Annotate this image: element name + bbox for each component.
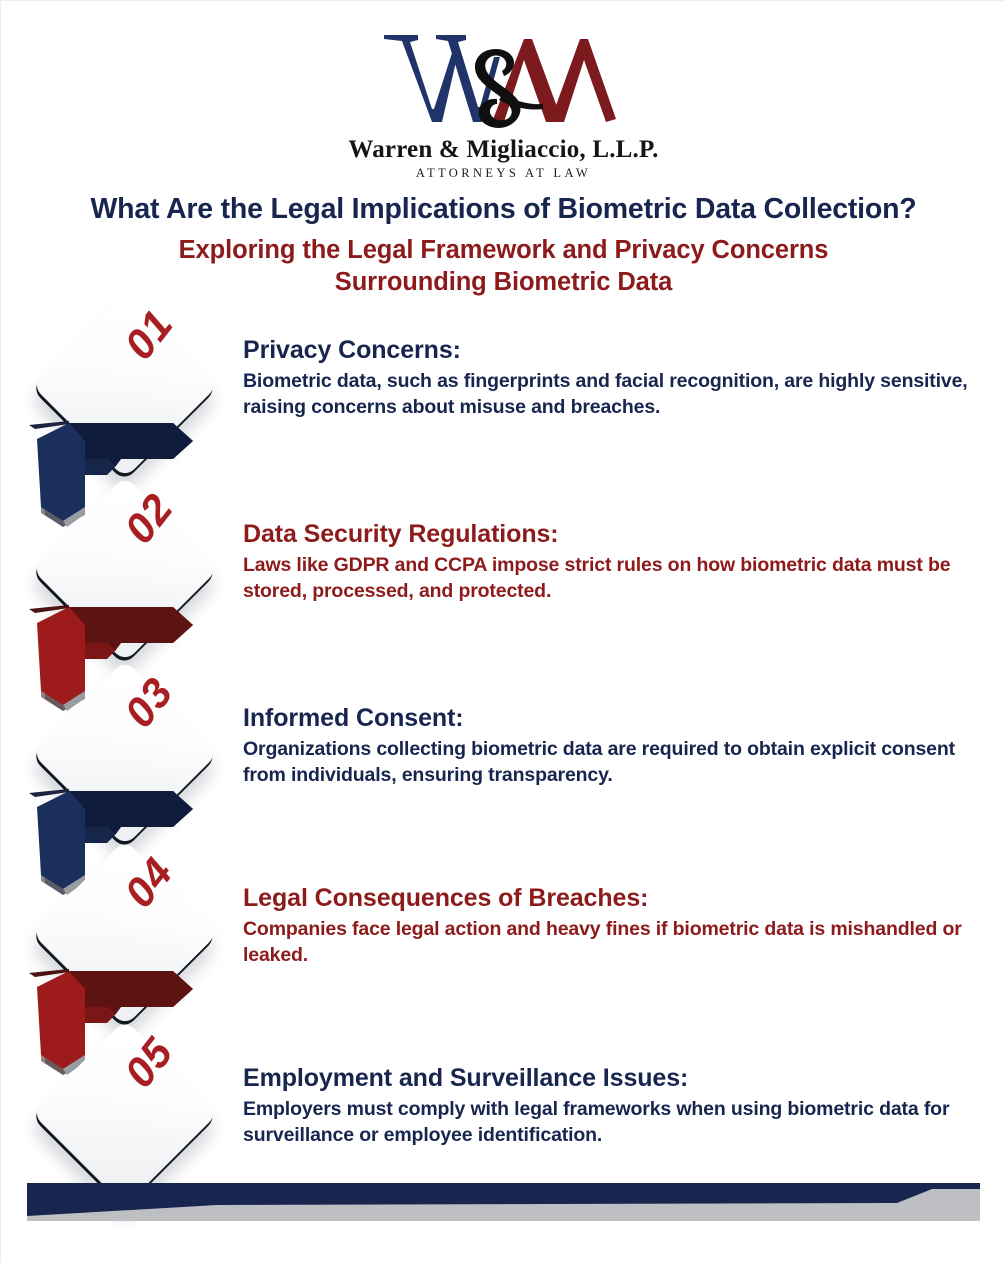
step-body: Organizations collecting biometric data … [243,737,983,789]
diamond-shape [32,1020,219,1207]
firm-name: Warren & Migliaccio, L.L.P. [1,137,1005,163]
wm-monogram-icon [374,27,634,135]
step-heading: Data Security Regulations: [243,519,983,549]
page-subtitle-line1: Exploring the Legal Framework and Privac… [1,234,1005,266]
brand-logo: Warren & Migliaccio, L.L.P. ATTORNEYS AT… [1,27,1005,181]
step-chain: 01 Privacy Concerns: Biometric data, su [1,297,1005,1197]
step-heading: Legal Consequences of Breaches: [243,883,983,913]
step-content: Privacy Concerns: Biometric data, such a… [243,335,983,421]
step-body: Laws like GDPR and CCPA impose strict ru… [243,553,983,605]
step-body: Companies face legal action and heavy fi… [243,917,983,969]
page-subtitle: Exploring the Legal Framework and Privac… [1,234,1005,298]
step-content: Legal Consequences of Breaches: Companie… [243,883,983,969]
step-content: Informed Consent: Organizations collecti… [243,703,983,789]
page-subtitle-line2: Surrounding Biometric Data [1,266,1005,298]
step-badge: 01 [23,297,238,512]
step-body: Biometric data, such as fingerprints and… [243,369,983,421]
infographic-page: Warren & Migliaccio, L.L.P. ATTORNEYS AT… [0,0,1005,1263]
step-content: Employment and Surveillance Issues: Empl… [243,1063,983,1149]
step-badge: 02 [23,481,238,696]
step-body: Employers must comply with legal framewo… [243,1097,983,1149]
footer-bar [27,1183,980,1221]
step-heading: Employment and Surveillance Issues: [243,1063,983,1093]
step-content: Data Security Regulations: Laws like GDP… [243,519,983,605]
step-heading: Privacy Concerns: [243,335,983,365]
page-title: What Are the Legal Implications of Biome… [1,193,1005,227]
step-heading: Informed Consent: [243,703,983,733]
firm-tagline: ATTORNEYS AT LAW [1,166,1005,181]
title-group: What Are the Legal Implications of Biome… [1,193,1005,298]
